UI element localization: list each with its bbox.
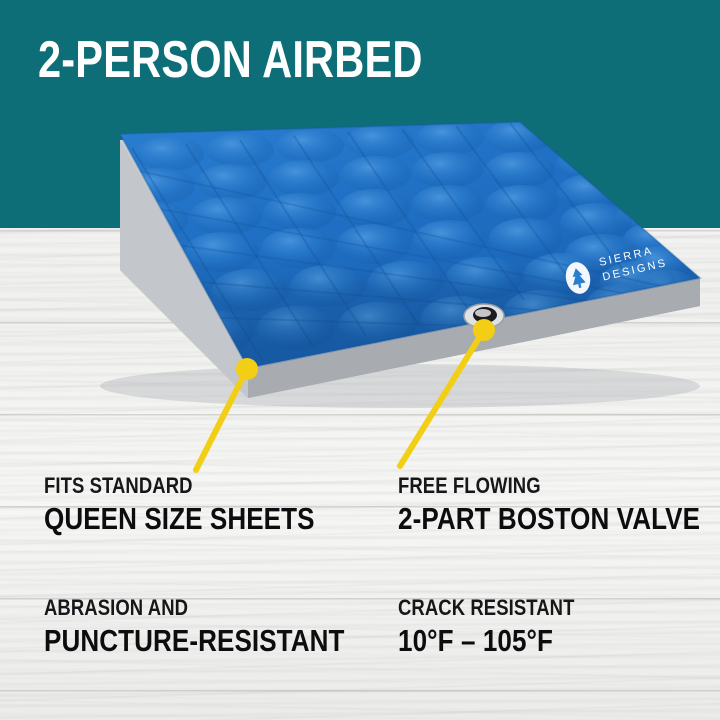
airbed-ground-shadow	[100, 364, 700, 408]
airbed-baffle-group	[0, 120, 720, 380]
feature-block-boston-valve: FREE FLOWING 2-PART BOSTON VALVE	[398, 474, 720, 536]
feature-subtitle: FITS STANDARD	[44, 474, 315, 498]
feature-block-crack-resistant: CRACK RESISTANT 10°F – 105°F	[398, 596, 608, 658]
feature-subtitle: CRACK RESISTANT	[398, 596, 574, 620]
boston-valve	[464, 304, 504, 328]
feature-block-queen-size: FITS STANDARD QUEEN SIZE SHEETS	[44, 474, 366, 536]
feature-subtitle: FREE FLOWING	[398, 474, 700, 498]
feature-block-puncture-resistant: ABRASION AND PUNCTURE-RESISTANT	[44, 596, 402, 658]
feature-title: 10°F – 105°F	[398, 623, 574, 658]
feature-title: QUEEN SIZE SHEETS	[44, 501, 315, 536]
airbed-illustration: SIERRA DESIGNS	[0, 120, 720, 420]
feature-title: PUNCTURE-RESISTANT	[44, 623, 344, 658]
page-title: 2-PERSON AIRBED	[38, 30, 423, 90]
feature-title: 2-PART BOSTON VALVE	[398, 501, 700, 536]
product-image-airbed: SIERRA DESIGNS	[0, 120, 720, 420]
infographic-canvas: 2-PERSON AIRBED	[0, 0, 720, 720]
feature-subtitle: ABRASION AND	[44, 596, 344, 620]
